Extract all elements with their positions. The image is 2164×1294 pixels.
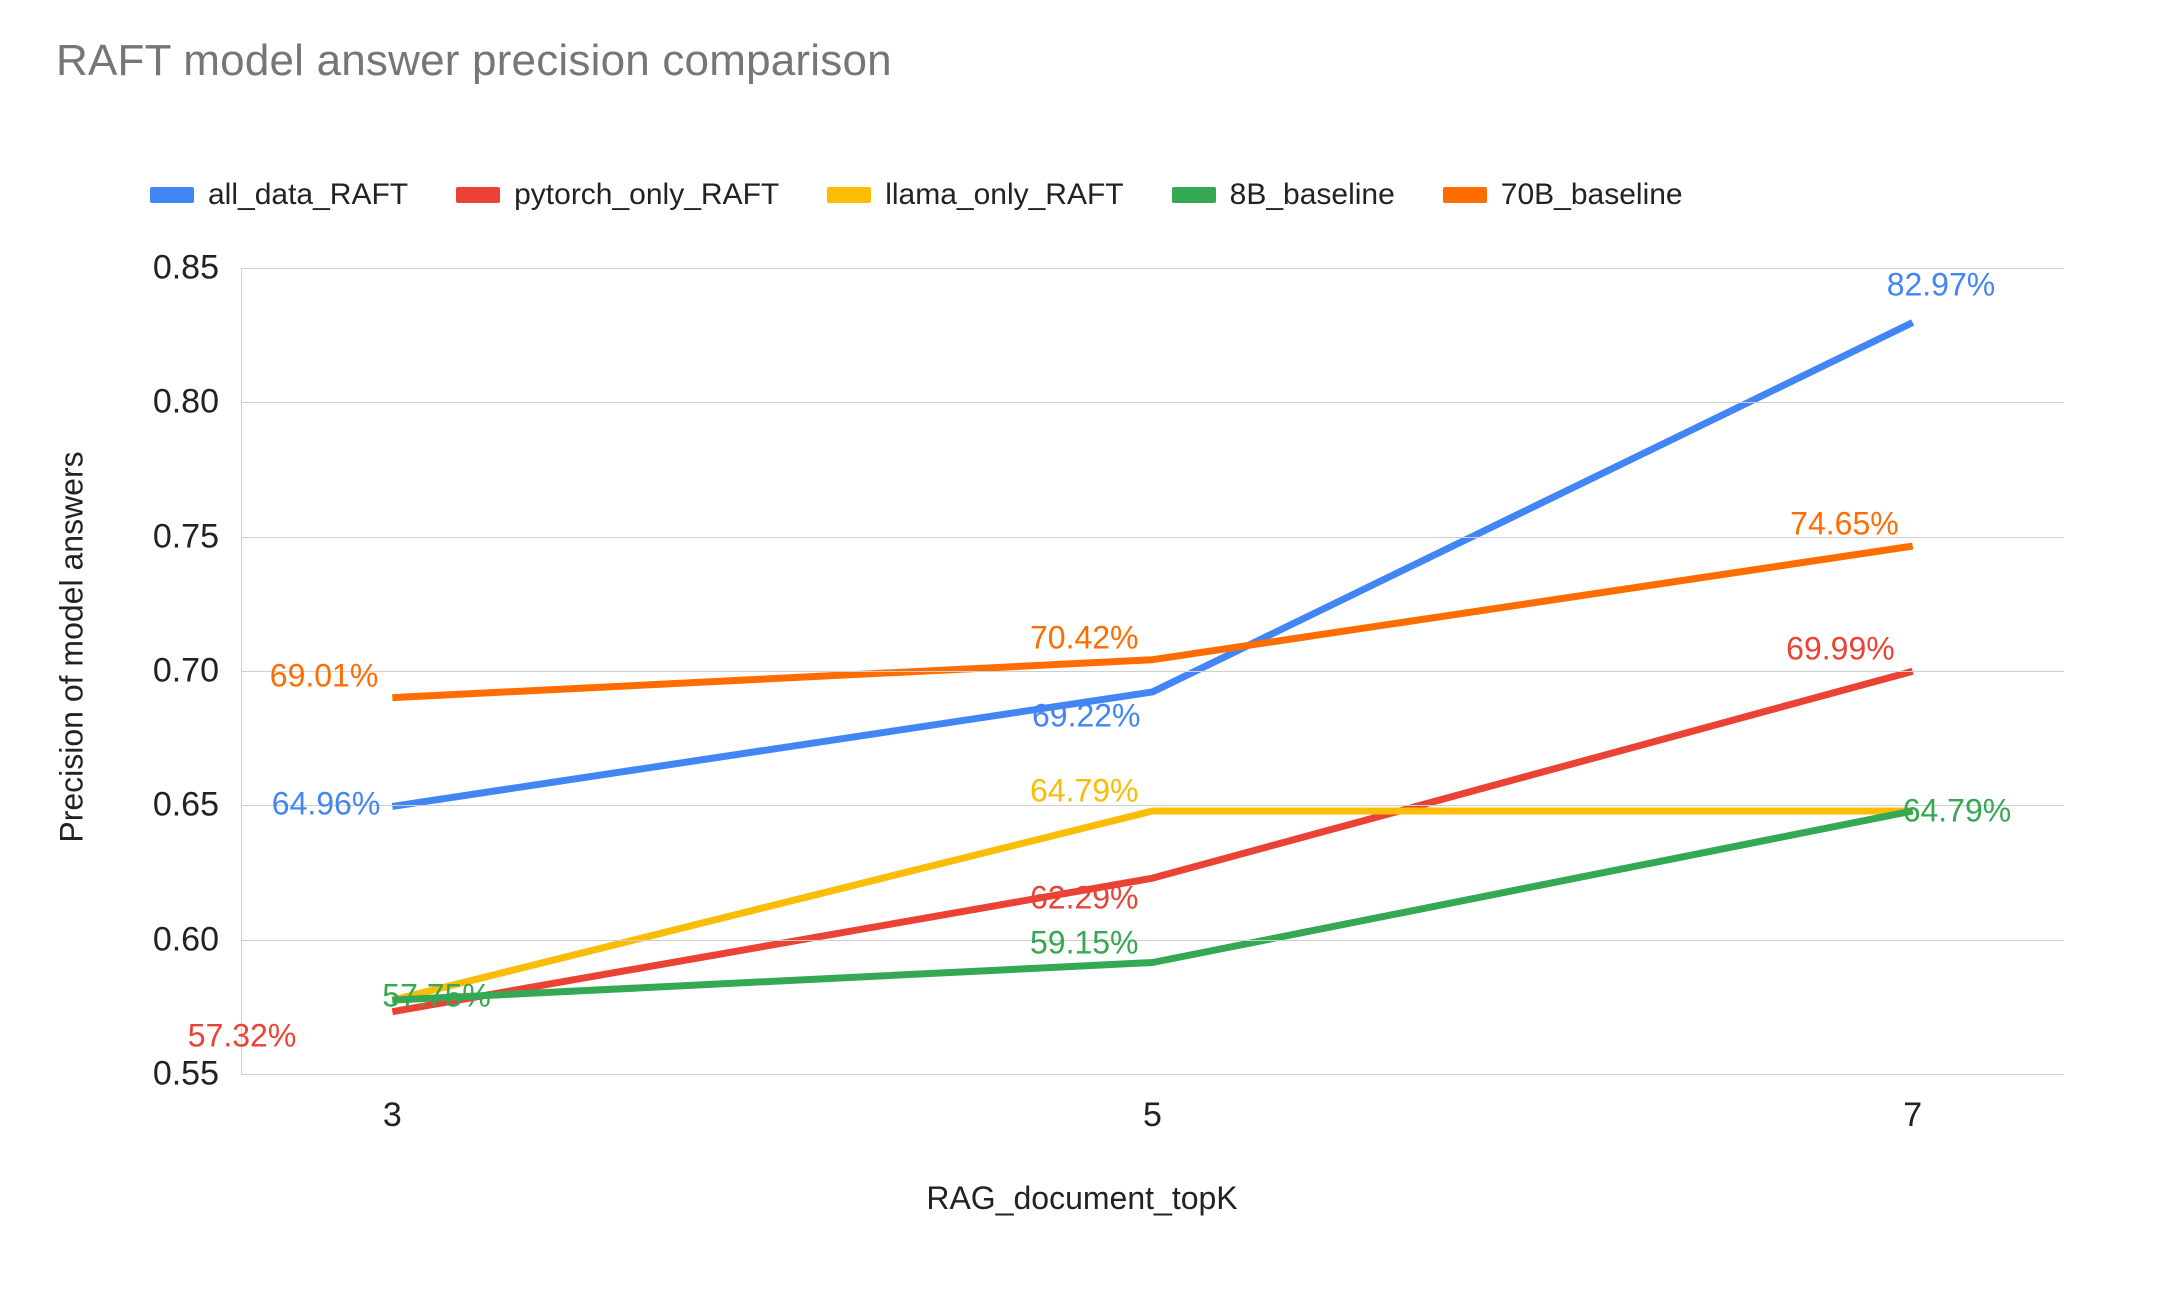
y-gridline: [241, 402, 2064, 403]
data-point-label: 59.15%: [1030, 924, 1139, 961]
y-axis-tick-label: 0.70: [153, 652, 219, 691]
y-axis-tick-label: 0.55: [153, 1055, 219, 1094]
legend-item-label: llama_only_RAFT: [885, 178, 1123, 212]
legend-item-70b-baseline[interactable]: 70B_baseline: [1443, 178, 1683, 212]
chart-title: RAFT model answer precision comparison: [56, 36, 892, 86]
data-point-label: 70.42%: [1030, 619, 1139, 656]
y-gridline: [241, 805, 2064, 806]
legend-swatch-icon: [1443, 187, 1487, 203]
data-point-label: 82.97%: [1887, 266, 1996, 303]
data-point-label: 74.65%: [1790, 506, 1899, 543]
data-point-label: 57.32%: [188, 1017, 297, 1054]
legend-swatch-icon: [1172, 187, 1216, 203]
legend-item-8b-baseline[interactable]: 8B_baseline: [1172, 178, 1395, 212]
y-axis-title: Precision of model answers: [54, 451, 91, 842]
data-point-label: 64.79%: [1030, 772, 1139, 809]
y-gridline: [241, 268, 2064, 269]
y-axis-tick-label: 0.65: [153, 786, 219, 825]
legend-item-pytorch-only-raft[interactable]: pytorch_only_RAFT: [456, 178, 779, 212]
y-axis-tick-label: 0.80: [153, 383, 219, 422]
legend-item-label: 70B_baseline: [1501, 178, 1683, 212]
plot-area: 0.550.600.650.700.750.800.8535764.96%69.…: [241, 268, 2064, 1074]
y-gridline: [241, 1074, 2064, 1075]
legend-swatch-icon: [456, 187, 500, 203]
legend-item-label: 8B_baseline: [1230, 178, 1395, 212]
chart-legend: all_data_RAFTpytorch_only_RAFTllama_only…: [150, 178, 1683, 212]
x-axis-tick-label: 5: [1143, 1096, 1162, 1135]
legend-swatch-icon: [827, 187, 871, 203]
series-line-70b-baseline: [392, 546, 1912, 698]
data-point-label: 62.29%: [1030, 880, 1139, 917]
data-point-label: 57.75%: [382, 978, 491, 1015]
legend-swatch-icon: [150, 187, 194, 203]
y-gridline: [241, 671, 2064, 672]
legend-item-llama-only-raft[interactable]: llama_only_RAFT: [827, 178, 1123, 212]
x-axis-tick-label: 7: [1903, 1096, 1922, 1135]
data-point-label: 69.99%: [1786, 631, 1895, 668]
chart-container: RAFT model answer precision comparison a…: [0, 0, 2164, 1294]
legend-item-label: pytorch_only_RAFT: [514, 178, 779, 212]
y-gridline: [241, 940, 2064, 941]
y-axis-tick-label: 0.60: [153, 920, 219, 959]
data-point-label: 69.01%: [270, 657, 379, 694]
y-axis-tick-label: 0.85: [153, 249, 219, 288]
data-point-label: 69.22%: [1032, 697, 1141, 734]
y-axis-tick-label: 0.75: [153, 517, 219, 556]
data-point-label: 64.96%: [272, 786, 381, 823]
legend-item-label: all_data_RAFT: [208, 178, 408, 212]
x-axis-title: RAG_document_topK: [0, 1180, 2164, 1217]
x-axis-tick-label: 3: [383, 1096, 402, 1135]
legend-item-all-data-raft[interactable]: all_data_RAFT: [150, 178, 408, 212]
data-point-label: 64.79%: [1903, 792, 2012, 829]
